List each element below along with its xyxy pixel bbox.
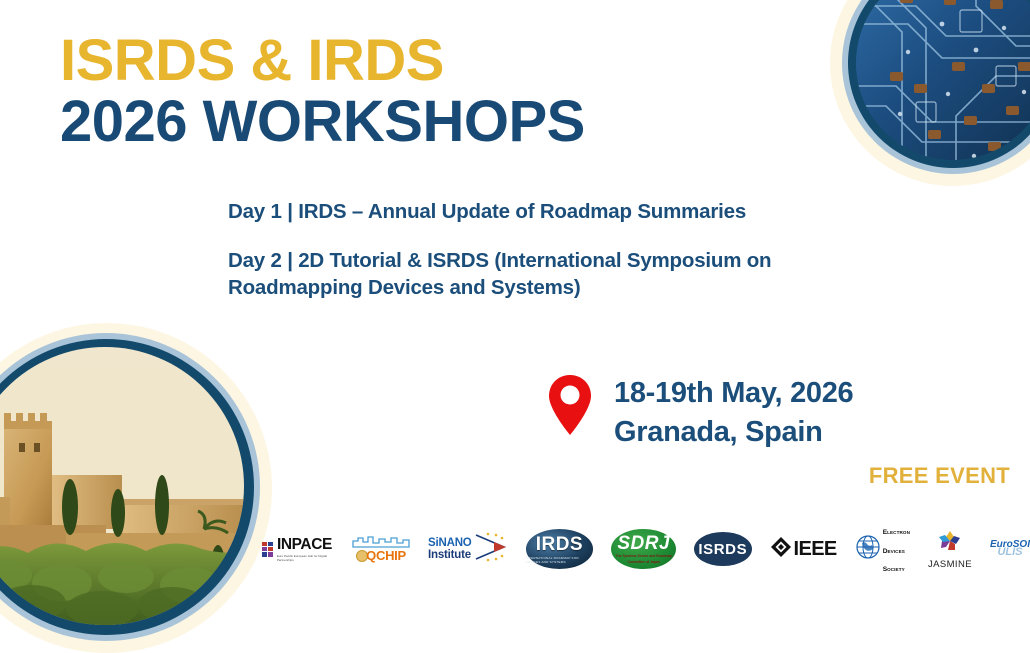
sdrj-subtitle-line-2: Committee of Japan (627, 560, 659, 565)
inpace-logo: INPACE Euro Pacific European Hub for Dig… (262, 526, 334, 572)
ieee-diamond-icon (770, 536, 792, 563)
sinano-institute-label: Institute (428, 549, 472, 561)
sinano-arrow-icon (474, 532, 508, 567)
eds-line-1: LECTRON (887, 530, 910, 535)
inpace-mark-icon (262, 542, 273, 557)
isrds-logo: ISRDS (694, 532, 751, 566)
agenda-day-2: Day 2 | 2D Tutorial & ISRDS (Internation… (228, 247, 888, 301)
inpace-subtitle: Euro Pacific European Hub for Digital Pa… (277, 554, 334, 562)
irds-logo: IRDS INTERNATIONAL ROADMAP FOR DEVICES A… (526, 529, 594, 569)
eds-line-2: EVICES (887, 549, 904, 554)
isrds-wordmark: ISRDS (698, 541, 747, 558)
headline-line-1: ISRDS & IRDS (60, 30, 585, 91)
page-title: ISRDS & IRDS 2026 WORKSHOPS (60, 30, 585, 153)
qchip-wordmark: QCHIP (366, 548, 406, 563)
agenda-day-1: Day 1 | IRDS – Annual Update of Roadmap … (228, 198, 888, 225)
sinano-wordmark: SiNANO (428, 537, 472, 549)
event-location: Granada, Spain (614, 413, 853, 452)
inpace-wordmark: INPACE (277, 536, 332, 553)
agenda-list: Day 1 | IRDS – Annual Update of Roadmap … (228, 198, 888, 301)
sinano-logo: SiNANO Institute (428, 526, 508, 572)
sdrj-subtitle-line-1: The Systems Device and Roadmap (616, 554, 672, 559)
jasmine-logo: JASMINE (928, 526, 972, 572)
event-details: 18-19th May, 2026 Granada, Spain (548, 374, 853, 452)
irds-subtitle: INTERNATIONAL ROADMAP FOR DEVICES AND SY… (526, 556, 594, 564)
sdrj-wordmark: SDRJ (617, 534, 670, 553)
eds-line-3: OCIETY (887, 567, 905, 572)
irds-wordmark: IRDS (536, 535, 583, 554)
eurosoi-ulis-logo: EuroSOI ULIS (990, 526, 1030, 572)
globe-icon (855, 534, 881, 565)
jasmine-flower-icon (937, 540, 963, 557)
qchip-building-icon (352, 534, 410, 548)
free-event-badge: FREE EVENT (869, 463, 1010, 489)
headline-line-2: 2026 WORKSHOPS (60, 91, 585, 152)
ieee-logo: IEEE (770, 526, 837, 572)
sponsor-logo-strip: INPACE Euro Pacific European Hub for Dig… (0, 523, 1030, 575)
sdrj-logo: SDRJ The Systems Device and Roadmap Comm… (611, 529, 676, 569)
event-dates: 18-19th May, 2026 (614, 374, 853, 413)
ieee-wordmark: IEEE (794, 539, 837, 559)
map-pin-icon (548, 374, 592, 441)
jasmine-wordmark: JASMINE (928, 560, 972, 570)
ieee-electron-devices-society-logo: ELECTRON DEVICES SOCIETY (855, 526, 910, 572)
qchip-logo: QCHIP (352, 526, 410, 572)
